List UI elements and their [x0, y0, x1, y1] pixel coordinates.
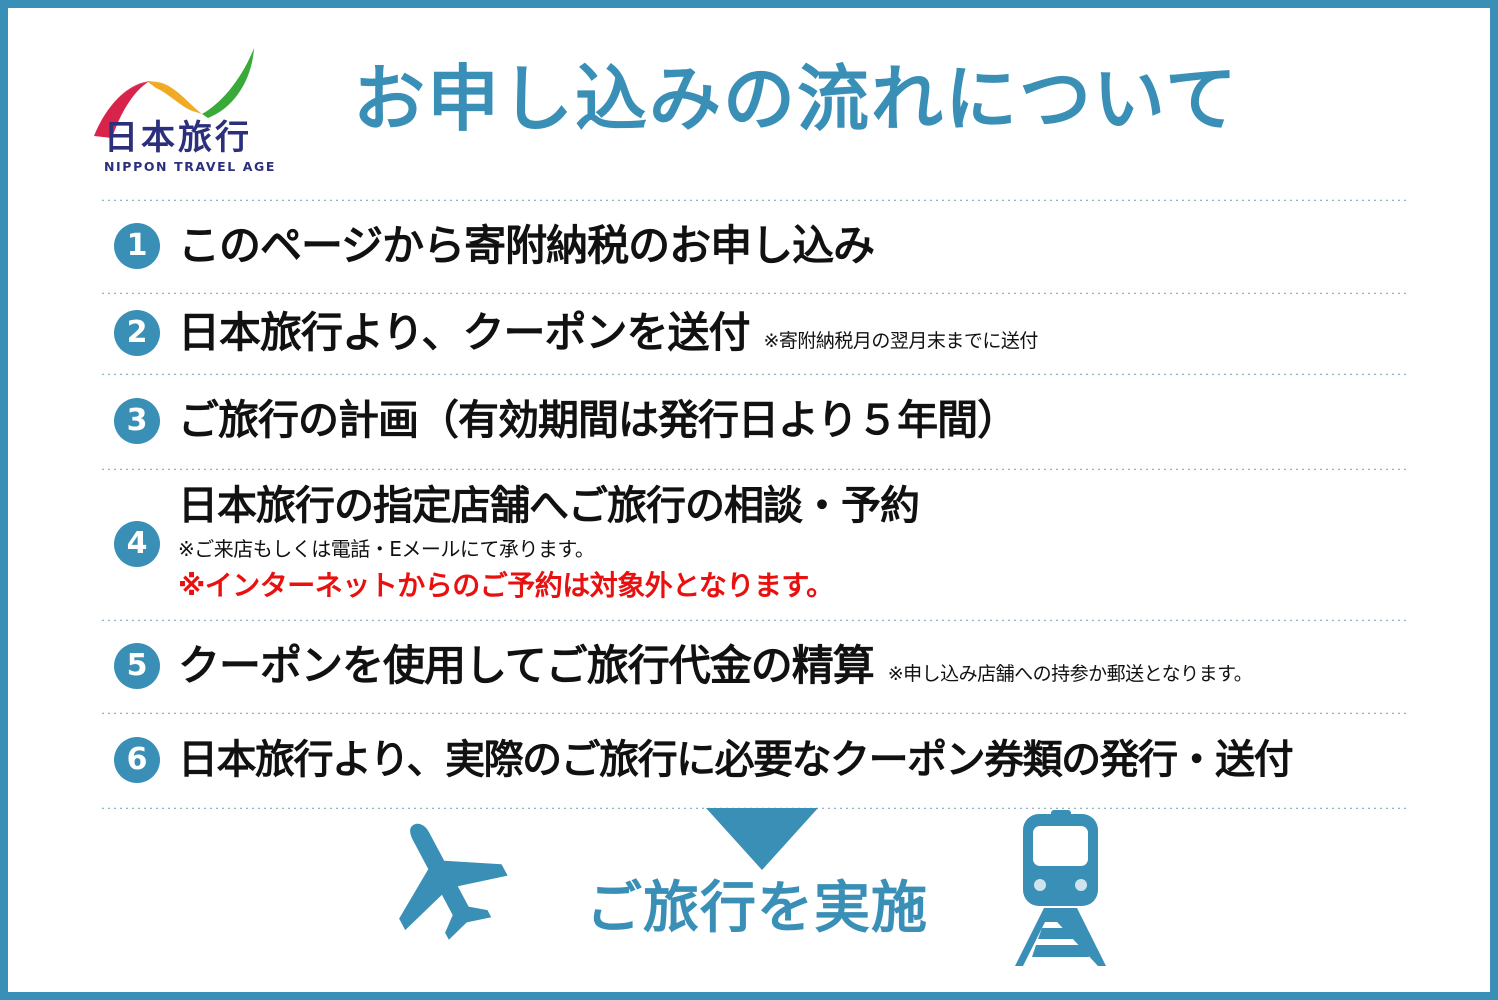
- train-icon: [1003, 808, 1118, 977]
- step-title-6: 日本旅行より、実際のご旅行に必要なクーポン券類の発行・送付: [178, 738, 1410, 783]
- airplane-icon: [380, 810, 510, 944]
- step-note-2: ※寄附納税月の翌月末までに送付: [763, 331, 1037, 352]
- step-row-5: 5 クーポンを使用してご旅行代金の精算 ※申し込み店舗への持参か郵送となります。: [100, 621, 1410, 711]
- step-title-4: 日本旅行の指定店舗へご旅行の相談・予約: [178, 484, 1410, 529]
- poster-frame: 日本旅行 NIPPON TRAVEL AGENCY お申し込みの流れについて 1…: [0, 0, 1498, 1000]
- step-body-4: 日本旅行の指定店舗へご旅行の相談・予約 ※ご来店もしくは電話・Eメールにて承りま…: [178, 484, 1410, 604]
- nippon-travel-agency-logo: 日本旅行 NIPPON TRAVEL AGENCY: [86, 44, 276, 179]
- step-number-badge-3: 3: [114, 398, 160, 444]
- step-subnote-4: ※ご来店もしくは電話・Eメールにて承ります。: [178, 533, 1410, 562]
- logo-brand-ja: 日本旅行: [104, 118, 252, 158]
- page-title: お申し込みの流れについて: [353, 60, 1239, 139]
- step-body-5: クーポンを使用してご旅行代金の精算 ※申し込み店舗への持参か郵送となります。: [178, 642, 1410, 689]
- footer-caption: ご旅行を実施: [586, 863, 928, 944]
- step-number-badge-5: 5: [114, 643, 160, 689]
- step-row-1: 1 このページから寄附納税のお申し込み: [100, 201, 1410, 291]
- step-title-1: このページから寄附納税のお申し込み: [178, 222, 1410, 269]
- step-body-3: ご旅行の計画（有効期間は発行日より５年間）: [178, 398, 1410, 444]
- step-alert-note-4: ※インターネットからのご予約は対象外となります。: [178, 564, 1410, 604]
- footer: ご旅行を実施: [8, 798, 1490, 988]
- step-title-5: クーポンを使用してご旅行代金の精算 ※申し込み店舗への持参か郵送となります。: [178, 642, 1410, 689]
- step-body-6: 日本旅行より、実際のご旅行に必要なクーポン券類の発行・送付: [178, 738, 1410, 783]
- step-number-badge-6: 6: [114, 737, 160, 783]
- step-number-badge-4: 4: [114, 521, 160, 567]
- step-body-2: 日本旅行より、クーポンを送付 ※寄附納税月の翌月末までに送付: [178, 309, 1410, 356]
- step-row-6: 6 日本旅行より、実際のご旅行に必要なクーポン券類の発行・送付: [100, 714, 1410, 806]
- step-title-2: 日本旅行より、クーポンを送付 ※寄附納税月の翌月末までに送付: [178, 309, 1410, 356]
- step-title-text-3: ご旅行の計画（有効期間は発行日より５年間）: [178, 398, 1017, 444]
- step-row-3: 3 ご旅行の計画（有効期間は発行日より５年間）: [100, 375, 1410, 467]
- logo-brand-en: NIPPON TRAVEL AGENCY: [104, 159, 276, 174]
- header: 日本旅行 NIPPON TRAVEL AGENCY お申し込みの流れについて: [8, 8, 1490, 193]
- step-title-text-5: クーポンを使用してご旅行代金の精算: [178, 642, 874, 689]
- step-number-badge-1: 1: [114, 223, 160, 269]
- step-row-2: 2 日本旅行より、クーポンを送付 ※寄附納税月の翌月末までに送付: [100, 294, 1410, 372]
- step-title-text-1: このページから寄附納税のお申し込み: [178, 222, 874, 269]
- step-title-text-4: 日本旅行の指定店舗へご旅行の相談・予約: [178, 484, 919, 529]
- poster-sheet: 日本旅行 NIPPON TRAVEL AGENCY お申し込みの流れについて 1…: [8, 8, 1490, 992]
- step-row-4: 4 日本旅行の指定店舗へご旅行の相談・予約 ※ご来店もしくは電話・Eメールにて承…: [100, 470, 1410, 618]
- step-title-3: ご旅行の計画（有効期間は発行日より５年間）: [178, 398, 1410, 444]
- step-note-5: ※申し込み店舗への持参か郵送となります。: [888, 664, 1252, 685]
- step-body-1: このページから寄附納税のお申し込み: [178, 222, 1410, 269]
- step-title-text-6: 日本旅行より、実際のご旅行に必要なクーポン券類の発行・送付: [178, 738, 1292, 783]
- steps-list: 1 このページから寄附納税のお申し込み 2 日本旅行より、クーポンを送付 ※寄附…: [100, 198, 1410, 809]
- step-title-text-2: 日本旅行より、クーポンを送付: [178, 309, 749, 356]
- step-number-badge-2: 2: [114, 310, 160, 356]
